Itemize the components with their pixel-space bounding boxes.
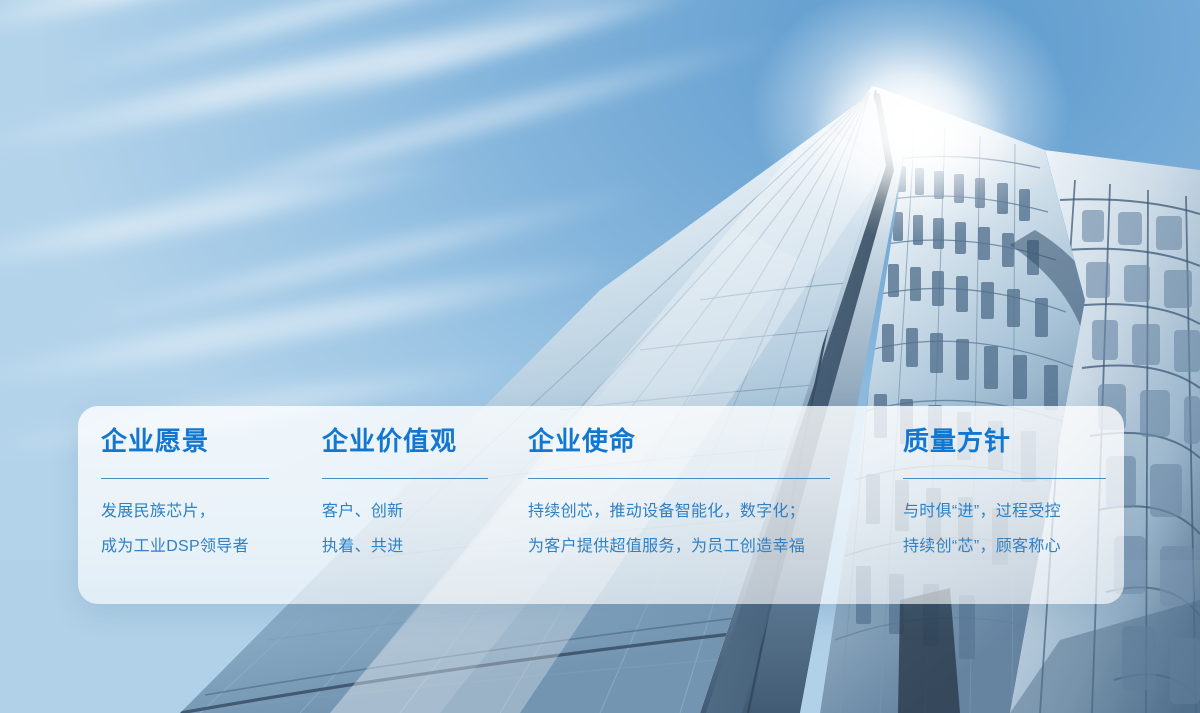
heading-divider xyxy=(101,478,269,479)
column-heading: 企业使命 xyxy=(528,426,636,456)
heading-divider xyxy=(528,478,830,479)
skyscraper-photo xyxy=(0,0,1200,713)
column-heading: 企业价值观 xyxy=(322,426,457,456)
column-body: 与时俱“进”，过程受控 持续创“芯”，顾客称心 xyxy=(903,500,1061,570)
culture-column-mission: 企业使命 持续创芯，推动设备智能化，数字化； 为客户提供超值服务，为员工创造幸福 xyxy=(528,406,868,604)
body-line: 成为工业DSP领导者 xyxy=(101,535,249,559)
body-line: 发展民族芯片， xyxy=(101,500,249,524)
body-line: 客户、创新 xyxy=(322,500,404,524)
culture-column-quality-policy: 质量方针 与时俱“进”，过程受控 持续创“芯”，顾客称心 xyxy=(903,406,1118,604)
body-line: 持续创“芯”，顾客称心 xyxy=(903,535,1061,559)
hero-banner: 企业愿景 发展民族芯片， 成为工业DSP领导者 企业价值观 客户、创新 执着、共… xyxy=(0,0,1200,713)
heading-divider xyxy=(322,478,488,479)
culture-card: 企业愿景 发展民族芯片， 成为工业DSP领导者 企业价值观 客户、创新 执着、共… xyxy=(78,406,1124,604)
column-body: 客户、创新 执着、共进 xyxy=(322,500,404,570)
body-line: 持续创芯，推动设备智能化，数字化； xyxy=(528,500,805,524)
body-line: 为客户提供超值服务，为员工创造幸福 xyxy=(528,535,805,559)
body-line: 与时俱“进”，过程受控 xyxy=(903,500,1061,524)
culture-column-values: 企业价值观 客户、创新 执着、共进 xyxy=(322,406,512,604)
column-body: 发展民族芯片， 成为工业DSP领导者 xyxy=(101,500,249,570)
column-heading: 质量方针 xyxy=(903,426,1011,456)
culture-column-vision: 企业愿景 发展民族芯片， 成为工业DSP领导者 xyxy=(101,406,301,604)
body-line: 执着、共进 xyxy=(322,535,404,559)
column-body: 持续创芯，推动设备智能化，数字化； 为客户提供超值服务，为员工创造幸福 xyxy=(528,500,805,570)
column-heading: 企业愿景 xyxy=(101,426,209,456)
heading-divider xyxy=(903,478,1106,479)
